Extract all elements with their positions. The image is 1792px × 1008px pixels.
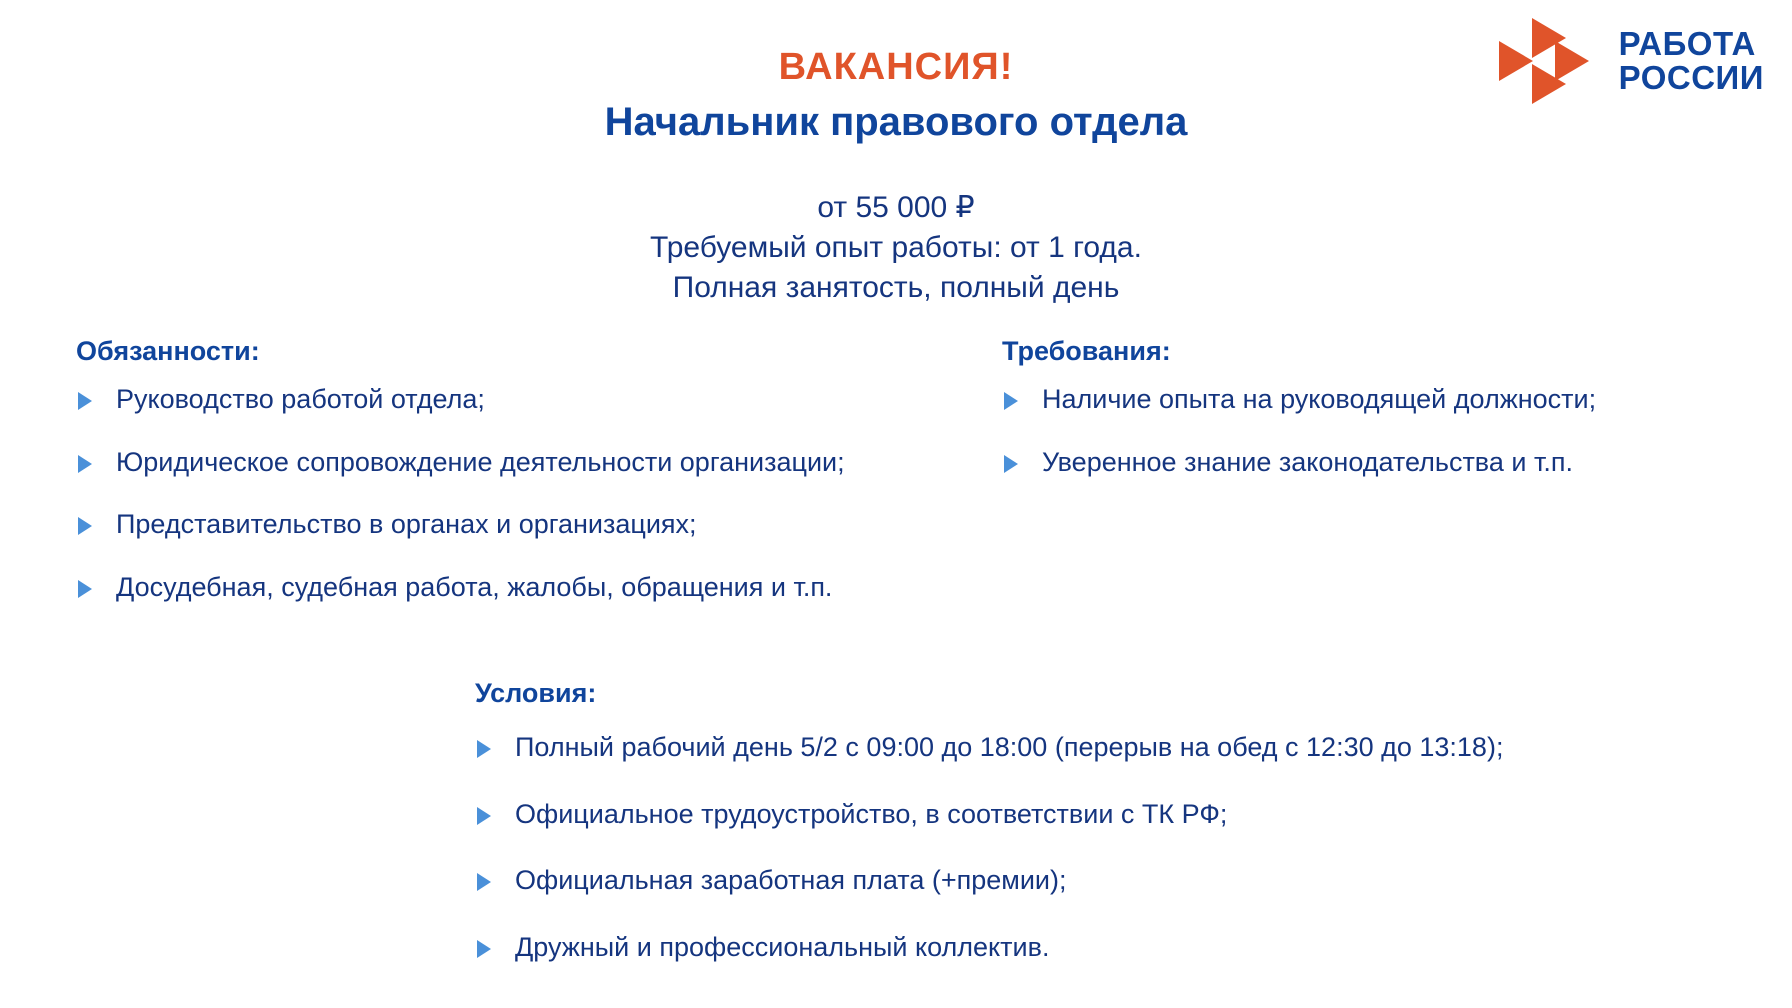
list-item-label: Юридическое сопровождение деятельности о… xyxy=(116,447,845,477)
list-item: Досудебная, судебная работа, жалобы, обр… xyxy=(76,569,866,606)
list-item: Руководство работой отдела; xyxy=(76,381,866,418)
list-item: Дружный и профессиональный коллектив. xyxy=(475,929,1595,966)
vacancy-summary: от 55 000 ₽ Требуемый опыт работы: от 1 … xyxy=(0,188,1792,308)
bullet-triangle-icon xyxy=(1004,455,1018,473)
list-item: Официальное трудоустройство, в соответст… xyxy=(475,796,1595,833)
requirements-title: Требования: xyxy=(1002,336,1762,367)
bullet-triangle-icon xyxy=(477,940,491,958)
requirements-section: Требования: Наличие опыта на руководящей… xyxy=(1002,336,1762,480)
duties-list: Руководство работой отдела; Юридическое … xyxy=(76,381,866,606)
list-item-label: Полный рабочий день 5/2 с 09:00 до 18:00… xyxy=(515,732,1503,762)
bullet-triangle-icon xyxy=(78,392,92,410)
requirements-list: Наличие опыта на руководящей должности; … xyxy=(1002,381,1762,480)
list-item: Представительство в органах и организаци… xyxy=(76,506,866,543)
list-item-label: Официальная заработная плата (+премии); xyxy=(515,865,1066,895)
duties-title: Обязанности: xyxy=(76,336,866,367)
list-item: Юридическое сопровождение деятельности о… xyxy=(76,444,866,481)
experience-text: Требуемый опыт работы: от 1 года. xyxy=(0,228,1792,268)
conditions-title: Условия: xyxy=(475,678,1595,709)
list-item-label: Досудебная, судебная работа, жалобы, обр… xyxy=(116,572,832,602)
list-item: Уверенное знание законодательства и т.п. xyxy=(1002,444,1762,481)
conditions-section: Условия: Полный рабочий день 5/2 с 09:00… xyxy=(475,678,1595,966)
salary-text: от 55 000 ₽ xyxy=(0,188,1792,228)
bullet-triangle-icon xyxy=(477,807,491,825)
bullet-triangle-icon xyxy=(78,580,92,598)
bullet-triangle-icon xyxy=(477,740,491,758)
list-item-label: Руководство работой отдела; xyxy=(116,384,485,414)
duties-section: Обязанности: Руководство работой отдела;… xyxy=(76,336,866,606)
list-item: Полный рабочий день 5/2 с 09:00 до 18:00… xyxy=(475,729,1595,766)
list-item-label: Наличие опыта на руководящей должности; xyxy=(1042,384,1596,414)
bullet-triangle-icon xyxy=(78,455,92,473)
list-item: Наличие опыта на руководящей должности; xyxy=(1002,381,1762,418)
list-item-label: Официальное трудоустройство, в соответст… xyxy=(515,799,1227,829)
page-title: Начальник правового отдела xyxy=(0,96,1792,148)
list-item-label: Дружный и профессиональный коллектив. xyxy=(515,932,1049,962)
conditions-list: Полный рабочий день 5/2 с 09:00 до 18:00… xyxy=(475,729,1595,966)
bullet-triangle-icon xyxy=(1004,392,1018,410)
list-item-label: Уверенное знание законодательства и т.п. xyxy=(1042,447,1573,477)
list-item: Официальная заработная плата (+премии); xyxy=(475,862,1595,899)
headline-block: ВАКАНСИЯ! Начальник правового отдела xyxy=(0,44,1792,148)
bullet-triangle-icon xyxy=(477,873,491,891)
employment-text: Полная занятость, полный день xyxy=(0,268,1792,308)
bullet-triangle-icon xyxy=(78,517,92,535)
vacancy-label: ВАКАНСИЯ! xyxy=(0,44,1792,92)
list-item-label: Представительство в органах и организаци… xyxy=(116,509,697,539)
